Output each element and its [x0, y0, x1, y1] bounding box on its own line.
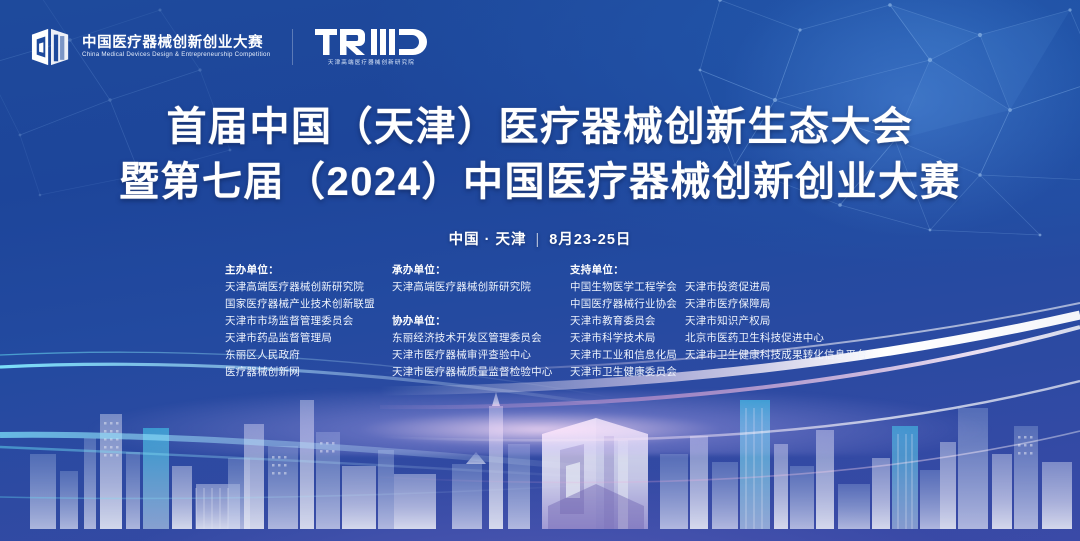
- event-meta: 中国 · 天津|8月23-25日: [0, 228, 1080, 249]
- organizer-item: 天津市科学技术局: [570, 330, 685, 347]
- partner-brand: 天津高端医疗器械创新研究院: [315, 29, 427, 66]
- organizer-columns: 主办单位： 天津高端医疗器械创新研究院 国家医疗器械产业技术创新联盟 天津市市场…: [225, 262, 925, 381]
- organizer-heading: 支持单位：: [570, 262, 685, 279]
- organizer-item: 天津市医疗保障局: [685, 296, 867, 313]
- title-line-1: 首届中国（天津）医疗器械创新生态大会: [0, 100, 1080, 155]
- organizer-heading: 承办单位：: [392, 262, 570, 279]
- organizer-item: 天津市投资促进局: [685, 279, 867, 296]
- brand-name-cn: 中国医疗器械创新创业大赛: [82, 36, 270, 51]
- organizer-item: 天津市卫生健康委员会: [570, 364, 685, 381]
- organizer-item: 天津市知识产权局: [685, 313, 867, 330]
- organizer-item: 东丽经济技术开发区管理委员会: [392, 330, 570, 347]
- organizer-column-host: 主办单位： 天津高端医疗器械创新研究院 国家医疗器械产业技术创新联盟 天津市市场…: [225, 262, 392, 381]
- brand-text-block: 中国医疗器械创新创业大赛 China Medical Devices Desig…: [82, 36, 270, 59]
- organizer-item: 东丽区人民政府: [225, 347, 392, 364]
- organizer-item: 国家医疗器械产业技术创新联盟: [225, 296, 392, 313]
- organizer-column-support-b: 天津市投资促进局 天津市医疗保障局 天津市知识产权局 北京市医药卫生科技促进中心…: [685, 262, 867, 364]
- header-divider: [292, 29, 293, 65]
- organizer-heading-spacer: [685, 262, 867, 279]
- trimd-wordmark-icon: [315, 29, 427, 55]
- partner-subtitle: 天津高端医疗器械创新研究院: [328, 58, 415, 66]
- organizer-item: 中国医疗器械行业协会: [570, 296, 685, 313]
- organizer-item: 天津市市场监督管理委员会: [225, 313, 392, 330]
- title-line-2: 暨第七届（2024）中国医疗器械创新创业大赛: [0, 155, 1080, 210]
- organizer-item: 天津市药品监督管理局: [225, 330, 392, 347]
- organizer-item: 天津市工业和信息化局: [570, 347, 685, 364]
- poster-header: 中国医疗器械创新创业大赛 China Medical Devices Desig…: [30, 27, 427, 67]
- event-location: 中国 · 天津: [449, 232, 527, 248]
- event-date: 8月23-25日: [549, 232, 631, 248]
- meta-separator: |: [535, 232, 540, 248]
- organizer-item: 天津市医疗器械审评查验中心: [392, 347, 570, 364]
- organizer-item: 天津高端医疗器械创新研究院: [225, 279, 392, 296]
- organizer-item: 天津市医疗器械质量监督检验中心: [392, 364, 570, 381]
- organizer-column-support-a: 支持单位： 中国生物医学工程学会 中国医疗器械行业协会 天津市教育委员会 天津市…: [570, 262, 685, 381]
- organizer-item: 北京市医药卫生科技促进中心: [685, 330, 867, 347]
- organizer-column-organizer: 承办单位： 天津高端医疗器械创新研究院 协办单位： 东丽经济技术开发区管理委员会…: [392, 262, 570, 381]
- brand-name-en: China Medical Devices Design & Entrepren…: [82, 52, 270, 59]
- organizer-item: 医疗器械创新网: [225, 364, 392, 381]
- event-poster: 中国医疗器械创新创业大赛 China Medical Devices Desig…: [0, 0, 1080, 541]
- organizer-heading: 主办单位：: [225, 262, 392, 279]
- competition-brand: 中国医疗器械创新创业大赛 China Medical Devices Desig…: [30, 27, 270, 67]
- poster-title: 首届中国（天津）医疗器械创新生态大会 暨第七届（2024）中国医疗器械创新创业大…: [0, 100, 1080, 210]
- organizer-item: 中国生物医学工程学会: [570, 279, 685, 296]
- organizer-item: 天津市教育委员会: [570, 313, 685, 330]
- open-door-gateway-icon: [30, 27, 72, 67]
- organizer-heading: 协办单位：: [392, 313, 570, 330]
- column-spacer: [392, 296, 570, 313]
- organizer-item: 天津高端医疗器械创新研究院: [392, 279, 570, 296]
- organizer-item: 天津市卫生健康科技成果转化信息平台: [685, 347, 867, 364]
